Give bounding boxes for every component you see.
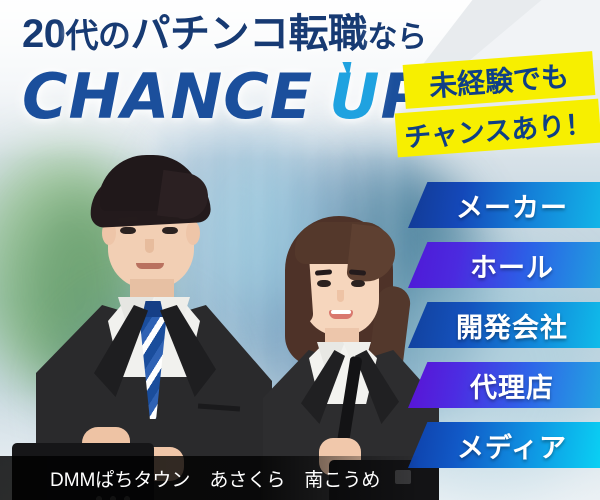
- btn-hall-label: ホール: [470, 246, 554, 285]
- eye-right: [351, 280, 365, 287]
- chance-up-logo: CHANCEUP: [22, 66, 427, 128]
- eye-right: [162, 227, 178, 234]
- btn-agency-label: 代理店: [470, 366, 554, 405]
- headline-dai-no: 代の: [66, 17, 131, 54]
- btn-media-label: メディア: [457, 426, 567, 465]
- badge-inexperienced-label: 未経験でも: [428, 55, 571, 105]
- ear-right: [186, 221, 200, 245]
- btn-media[interactable]: メディア: [408, 422, 600, 468]
- btn-developer-label: 開発会社: [456, 306, 568, 345]
- teeth: [331, 310, 351, 314]
- headline-suffix: なら: [368, 21, 427, 54]
- headline-main: パチンコ転職: [131, 12, 368, 56]
- logo-chance-text: CHANCE: [22, 60, 313, 133]
- person-male: [20, 155, 270, 500]
- nose: [145, 239, 154, 253]
- people-photo: [0, 140, 420, 500]
- category-button-list: メーカー ホール 開発会社 代理店 メディア: [408, 180, 600, 480]
- caption-text: DMMぱちタウン あさくら 南こうめ: [0, 465, 380, 492]
- btn-agency[interactable]: 代理店: [408, 362, 600, 408]
- mouth: [136, 263, 164, 269]
- btn-developer[interactable]: 開発会社: [408, 302, 600, 348]
- headline: 20代のパチンコ転職なら: [22, 14, 427, 54]
- caption-bar: DMMぱちタウン あさくら 南こうめ: [0, 456, 420, 500]
- btn-hall[interactable]: ホール: [408, 242, 600, 288]
- eye-left: [120, 227, 136, 234]
- recruitment-banner[interactable]: 20代のパチンコ転職なら CHANCEUP 未経験でも チャンスあり！ メーカー…: [0, 0, 600, 500]
- nose: [337, 290, 344, 302]
- btn-maker[interactable]: メーカー: [408, 182, 600, 228]
- btn-maker-label: メーカー: [456, 186, 568, 225]
- headline-number: 20: [22, 12, 66, 56]
- logo-u-letter: U: [329, 66, 380, 128]
- eye-left: [317, 280, 331, 287]
